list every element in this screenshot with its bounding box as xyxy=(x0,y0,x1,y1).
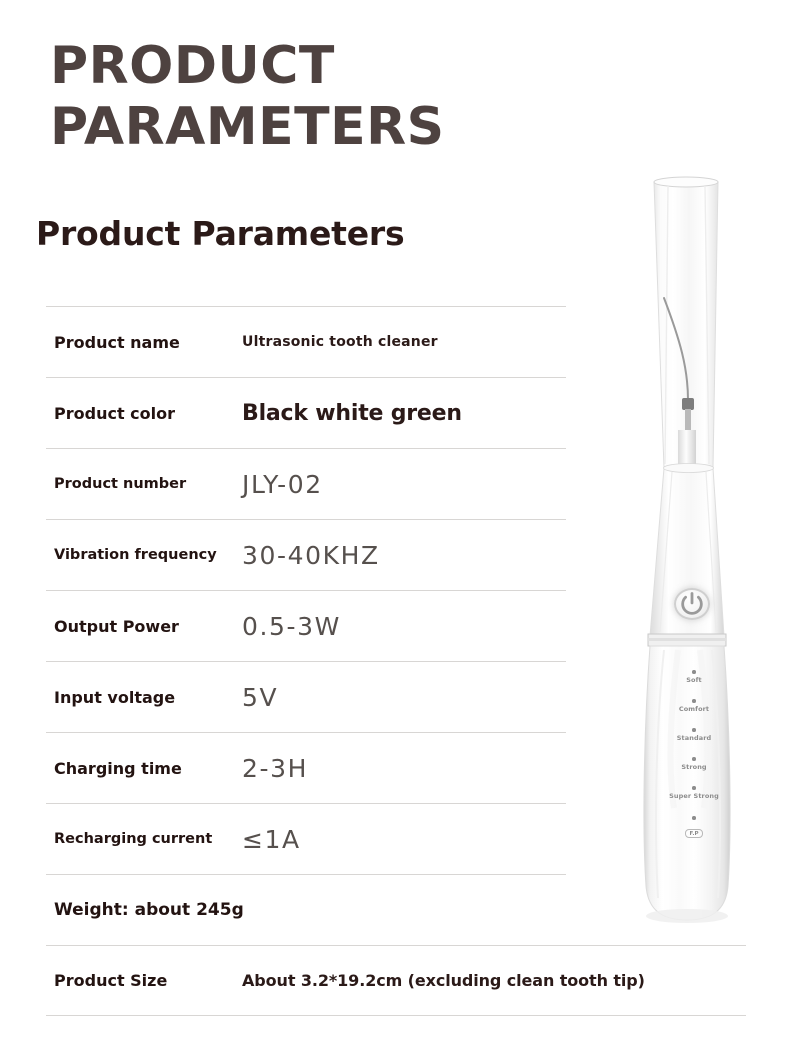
spec-label: Output Power xyxy=(46,617,242,636)
spec-label: Product color xyxy=(46,404,242,423)
table-row: Vibration frequency 30-40KHZ xyxy=(46,519,566,590)
spec-value: ≤1A xyxy=(242,825,566,854)
spec-label: Vibration frequency xyxy=(46,547,242,563)
table-row: Product Size About 3.2*19.2cm (excluding… xyxy=(46,945,746,1016)
table-row: Output Power 0.5-3W xyxy=(46,590,566,661)
product-image: Soft Comfort Standard Strong Super Stron… xyxy=(612,168,790,938)
spec-label: Charging time xyxy=(46,759,242,778)
specifications-table: Product name Ultrasonic tooth cleaner Pr… xyxy=(46,306,566,1016)
table-row: Charging time 2-3H xyxy=(46,732,566,803)
spec-value: 0.5-3W xyxy=(242,612,566,641)
table-row: Weight: about 245g xyxy=(46,874,566,945)
table-row: Recharging current ≤1A xyxy=(46,803,566,874)
table-row: Product number JLY-02 xyxy=(46,448,566,519)
table-row: Product name Ultrasonic tooth cleaner xyxy=(46,306,566,377)
spec-label: Weight: about 245g xyxy=(46,900,244,920)
page-title-line-2: PARAMETERS xyxy=(50,97,570,158)
spec-label: Product name xyxy=(46,333,242,352)
page-title-line-1: PRODUCT xyxy=(50,36,570,97)
spec-value: 5V xyxy=(242,683,566,712)
spec-value: JLY-02 xyxy=(242,470,566,499)
section-title: Product Parameters xyxy=(36,214,404,253)
table-row: Input voltage 5V xyxy=(46,661,566,732)
table-row: Product color Black white green xyxy=(46,377,566,448)
spec-value: Ultrasonic tooth cleaner xyxy=(242,334,566,350)
product-parameters-page: PRODUCT PARAMETERS Product Parameters Pr… xyxy=(0,0,790,1050)
page-title: PRODUCT PARAMETERS xyxy=(50,36,570,158)
spec-value: About 3.2*19.2cm (excluding clean tooth … xyxy=(242,971,746,990)
spec-label: Product number xyxy=(46,476,242,492)
spec-label: Product Size xyxy=(46,971,242,990)
spec-label: Recharging current xyxy=(46,831,242,847)
spec-value: 2-3H xyxy=(242,754,566,783)
spec-value: 30-40KHZ xyxy=(242,541,566,570)
spec-value: Black white green xyxy=(242,401,566,426)
spec-label: Input voltage xyxy=(46,688,242,707)
